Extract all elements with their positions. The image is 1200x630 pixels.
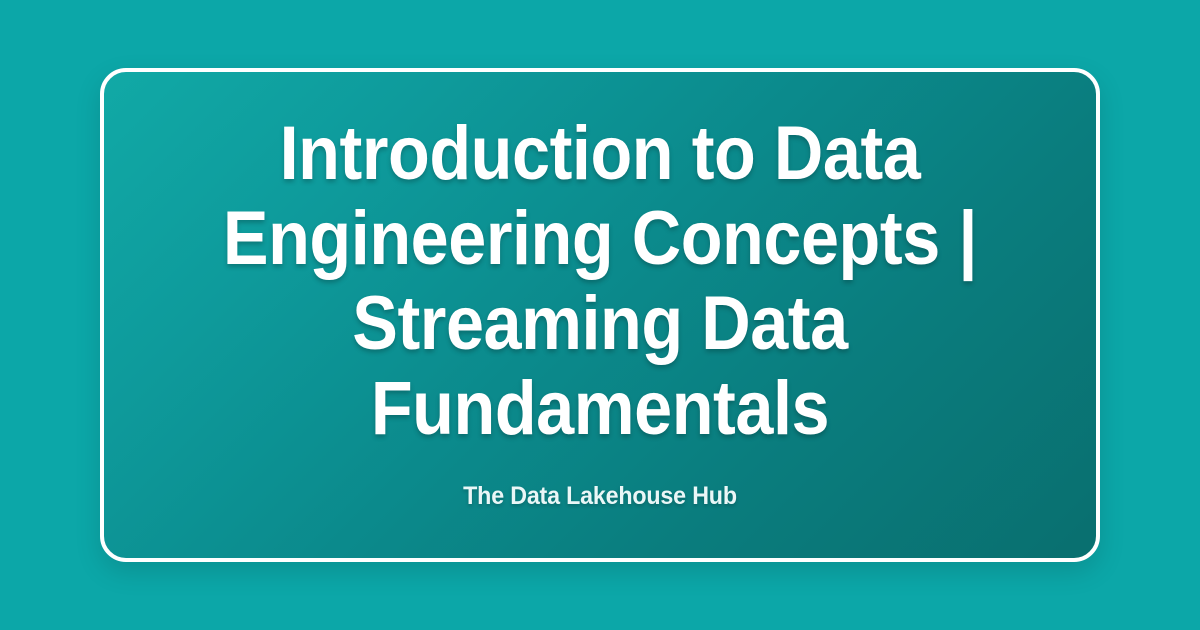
social-card-canvas: Introduction to Data Engineering Concept…	[0, 0, 1200, 630]
site-name-subtitle: The Data Lakehouse Hub	[176, 451, 1024, 511]
page-title: Introduction to Data Engineering Concept…	[190, 111, 1011, 451]
content-card: Introduction to Data Engineering Concept…	[100, 68, 1100, 562]
